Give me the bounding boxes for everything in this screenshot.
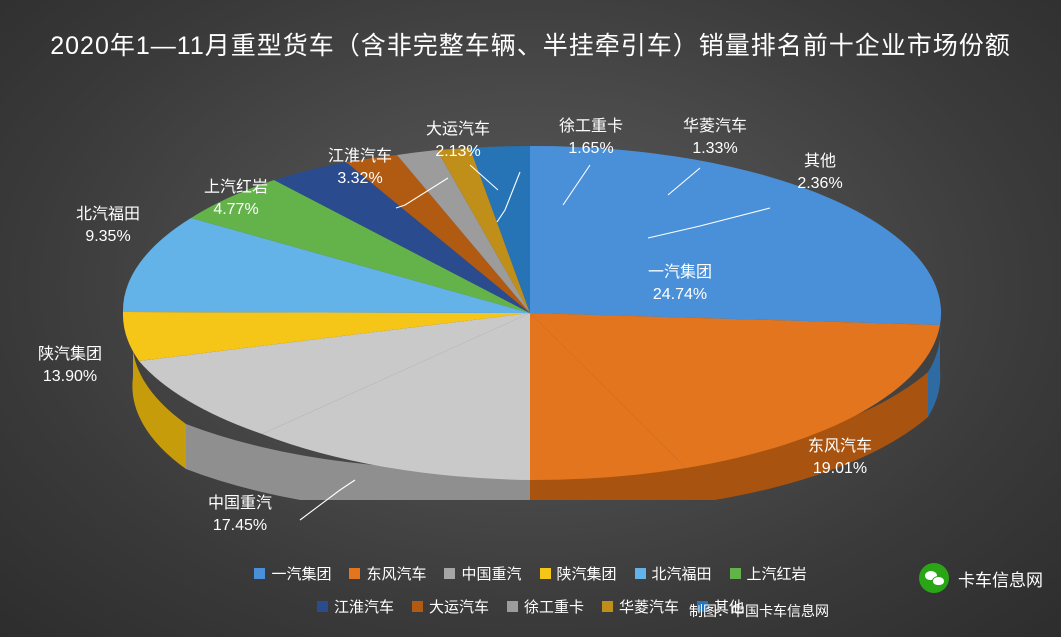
legend-swatch [254,568,265,579]
watermark: 卡车信息网 [919,563,1043,593]
legend-swatch [730,568,741,579]
slice-label-dayun: 大运汽车 2.13% [388,119,528,163]
legend-label: 上汽红岩 [747,563,807,584]
legend-swatch [602,601,613,612]
legend-label: 中国重汽 [461,563,521,584]
legend-item-jianghuai[interactable]: 江淮汽车 [317,596,394,617]
slice-label-dongfeng: 东风汽车 19.01% [760,436,920,480]
legend-row-2: 江淮汽车 大运汽车 徐工重卡 华菱汽车 其他 [0,596,1061,617]
legend-label: 一汽集团 [271,563,331,584]
legend-swatch [349,568,360,579]
slice-label-xugong: 徐工重卡 1.65% [521,116,661,160]
watermark-text: 卡车信息网 [958,566,1043,591]
legend-label: 陕汽集团 [557,563,617,584]
slice-label-beiqifutian: 北汽福田 9.35% [38,204,178,248]
legend-swatch [412,601,423,612]
legend-swatch [540,568,551,579]
pie-chart-figure: 2020年1—11月重型货车（含非完整车辆、半挂牵引车）销量排名前十企业市场份额 [0,0,1061,637]
slice-label-shangqihongyan: 上汽红岩 4.77% [166,177,306,221]
legend-swatch [317,601,328,612]
legend-label: 北汽福田 [652,563,712,584]
legend-item-yiqi[interactable]: 一汽集团 [254,563,331,584]
slice-label-shanqi: 陕汽集团 13.90% [0,344,140,388]
legend-item-dayun[interactable]: 大运汽车 [412,596,489,617]
legend-item-zhongguozhongqi[interactable]: 中国重汽 [444,563,521,584]
legend-item-xugong[interactable]: 徐工重卡 [507,596,584,617]
legend-swatch [635,568,646,579]
legend-label: 江淮汽车 [334,596,394,617]
legend-label: 东风汽车 [366,563,426,584]
legend-item-shanqi[interactable]: 陕汽集团 [540,563,617,584]
legend-label: 华菱汽车 [619,596,679,617]
legend-item-dongfeng[interactable]: 东风汽车 [349,563,426,584]
legend-item-shangqihongyan[interactable]: 上汽红岩 [730,563,807,584]
wechat-icon [919,563,949,593]
legend-swatch [507,601,518,612]
legend-row-1: 一汽集团 东风汽车 中国重汽 陕汽集团 北汽福田 上汽红岩 [0,563,1061,584]
slice-label-yiqi: 一汽集团 24.74% [600,262,760,306]
legend-item-hualing[interactable]: 华菱汽车 [602,596,679,617]
legend-label: 徐工重卡 [524,596,584,617]
legend-swatch [444,568,455,579]
slice-label-zhongguozhongqi: 中国重汽 17.45% [170,493,310,537]
legend-item-beiqifutian[interactable]: 北汽福田 [635,563,712,584]
legend-label: 大运汽车 [429,596,489,617]
slice-label-other: 其他 2.36% [750,151,890,195]
chart-credit: 制图：中国卡车信息网 [689,601,829,621]
pie-chart-svg [0,0,1061,637]
